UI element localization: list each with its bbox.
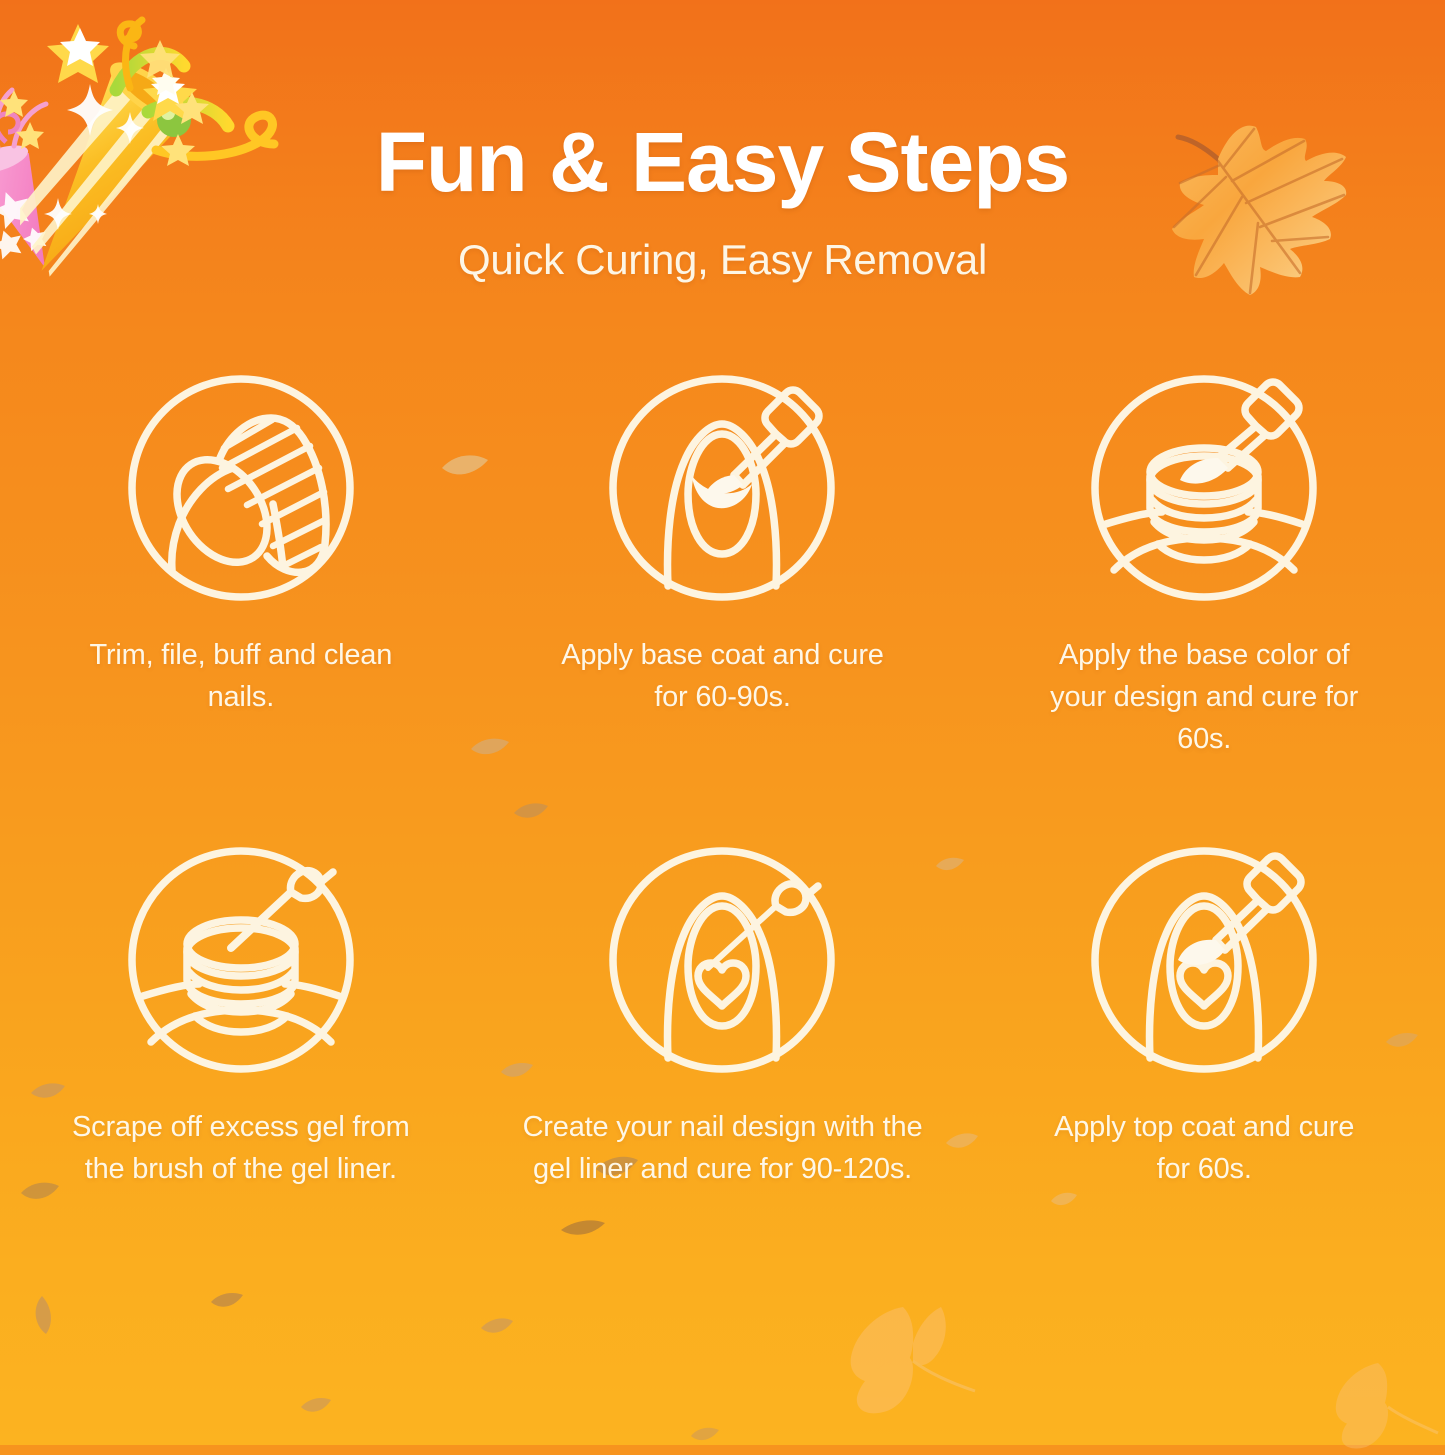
step-caption: Trim, file, buff and clean nails. xyxy=(76,634,406,718)
nail-file-icon xyxy=(125,372,357,604)
step-caption: Apply top coat and cure for 60s. xyxy=(1039,1106,1369,1190)
step-item-4: Scrape off excess gel from the brush of … xyxy=(0,844,482,1190)
step-caption: Create your nail design with the gel lin… xyxy=(522,1106,922,1190)
base-coat-brush-icon xyxy=(606,372,838,604)
header: Fun & Easy Steps Quick Curing, Easy Remo… xyxy=(0,0,1445,330)
page-title: Fun & Easy Steps xyxy=(0,118,1445,206)
gel-pot-brush-icon xyxy=(1088,372,1320,604)
step-item-5: Create your nail design with the gel lin… xyxy=(482,844,964,1190)
gel-pot-liner-icon xyxy=(125,844,357,1076)
step-item-2: Apply base coat and cure for 60-90s. xyxy=(482,372,964,760)
step-item-6: Apply top coat and cure for 60s. xyxy=(963,844,1445,1190)
step-caption: Scrape off excess gel from the brush of … xyxy=(68,1106,413,1190)
steps-grid: Trim, file, buff and clean nails. Ap xyxy=(0,372,1445,1190)
nail-top-coat-icon xyxy=(1088,844,1320,1076)
step-caption: Apply base coat and cure for 60-90s. xyxy=(557,634,887,718)
step-item-1: Trim, file, buff and clean nails. xyxy=(0,372,482,760)
page-subtitle: Quick Curing, Easy Removal xyxy=(0,236,1445,284)
step-caption: Apply the base color of your design and … xyxy=(1039,634,1369,760)
step-item-3: Apply the base color of your design and … xyxy=(963,372,1445,760)
nail-heart-liner-icon xyxy=(606,844,838,1076)
